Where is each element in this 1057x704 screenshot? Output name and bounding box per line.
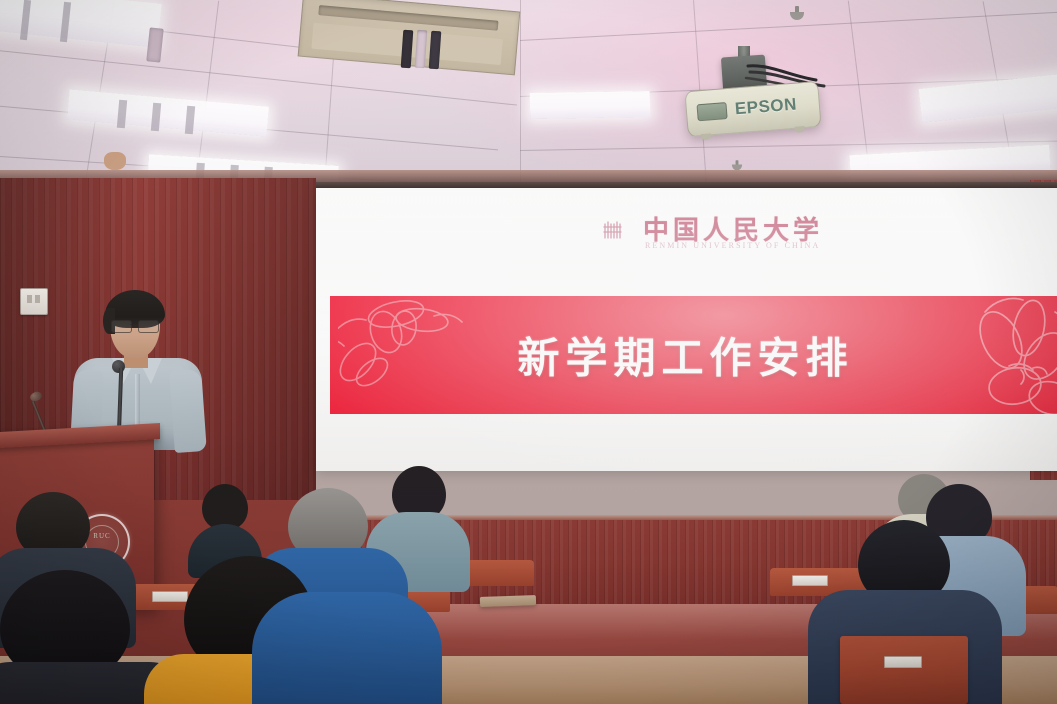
ceiling-light-panel <box>530 91 650 119</box>
speaker-glasses <box>111 320 159 331</box>
speaker-person <box>72 286 204 446</box>
speaker-arm-right <box>169 369 207 453</box>
projector-lens <box>696 102 727 121</box>
projector-brand-label: EPSON <box>734 95 797 120</box>
university-name-en: RENMIN UNIVERSITY OF CHINA <box>645 241 820 250</box>
chair-number-label <box>884 656 922 668</box>
slide-banner: 新学期工作安排 <box>330 296 1057 414</box>
conference-room-photo: EPSON 中国人民大学 RENMIN UNIVERSITY OF CHINA <box>0 0 1057 704</box>
wall-switch-plate[interactable] <box>20 288 48 315</box>
renmin-emblem-icon <box>599 216 629 246</box>
speaker-hand <box>104 152 126 170</box>
audience-member <box>258 488 428 704</box>
chair-writing-arm <box>480 595 536 607</box>
university-logo-block: 中国人民大学 RENMIN UNIVERSITY OF CHINA <box>599 210 829 258</box>
projection-screen: 中国人民大学 RENMIN UNIVERSITY OF CHINA <box>316 188 1057 471</box>
epson-projector: EPSON <box>684 81 821 137</box>
sprinkler-head <box>790 6 804 22</box>
slide-title: 新学期工作安排 <box>330 325 1057 386</box>
chair[interactable] <box>840 636 968 704</box>
